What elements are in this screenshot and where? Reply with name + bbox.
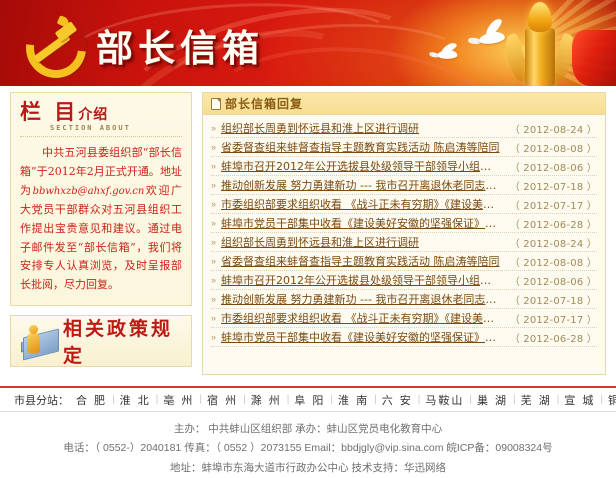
list-item-title[interactable]: 市委组织部要求组织收看 《战斗正未有穷期》《建设美好安徽的坚强保证》题片 <box>221 310 502 326</box>
torch-icon <box>516 2 564 86</box>
list-item[interactable]: »组织部长周勇到怀远县和淮上区进行调研（ 2012-08-24 ） <box>211 119 597 138</box>
footer-line-address: 地址：蚌埠市东海大道市行政办公中心 技术支持：华迅网络 <box>0 459 616 478</box>
list-item-date: （ 2012-06-28 ） <box>510 216 597 231</box>
list-item-title[interactable]: 蚌埠市党员干部集中收看《建设美好安徽的坚强保证》专题片 <box>221 215 502 231</box>
list-item-date: （ 2012-08-06 ） <box>510 273 597 288</box>
section-intro-heading-en: SECTION ABOUT <box>50 124 182 132</box>
bullet-icon: » <box>211 200 216 209</box>
bullet-icon: » <box>211 124 216 133</box>
list-item[interactable]: »省委督查组来蚌督查指导主题教育实践活动 陈启涛等陪同（ 2012-08-08 … <box>211 138 597 157</box>
list-item-date: （ 2012-07-18 ） <box>510 178 597 193</box>
list-item-date: （ 2012-07-17 ） <box>510 197 597 212</box>
page-root: 部长信箱 栏 目介绍 SECTION ABOUT 中共五河县委组织部“部长信箱”… <box>0 0 616 476</box>
list-item-title[interactable]: 市委组织部要求组织收看 《战斗正未有穷期》《建设美好安徽的坚强保证》题片 <box>221 196 502 212</box>
list-item[interactable]: »推动创新发展 努力勇建新功 --- 我市召开离退休老同志组织工作情况通报会（ … <box>211 290 597 309</box>
main-column: 部长信箱回复 »组织部长周勇到怀远县和淮上区进行调研（ 2012-08-24 ）… <box>202 92 606 375</box>
city-link[interactable]: 铜 陵 <box>603 392 616 408</box>
bullet-icon: » <box>211 143 216 152</box>
list-item-date: （ 2012-08-24 ） <box>510 235 597 250</box>
red-flag-icon <box>572 30 616 86</box>
policy-regulations-panel[interactable]: 相关政策规定 <box>10 315 192 367</box>
bullet-icon: » <box>211 333 216 342</box>
sidebar: 栏 目介绍 SECTION ABOUT 中共五河县委组织部“部长信箱”于2012… <box>10 92 192 367</box>
site-footer: 主办： 中共蚌山区组织部 承办：蚌山区党员电化教育中心 电话：（ 0552-）2… <box>0 412 616 478</box>
footer-line-organizer: 主办： 中共蚌山区组织部 承办：蚌山区党员电化教育中心 <box>0 420 616 439</box>
contact-email-link[interactable]: bbwhxzb@ahxf.gov.cn <box>33 186 145 197</box>
reply-list-title: 部长信箱回复 <box>225 95 303 112</box>
city-link[interactable]: 滁 州 <box>246 392 287 408</box>
city-subnav-label: 市县分站： <box>14 392 69 408</box>
list-item-date: （ 2012-08-24 ） <box>510 121 597 136</box>
content-area: 栏 目介绍 SECTION ABOUT 中共五河县委组织部“部长信箱”于2012… <box>0 86 616 386</box>
book-person-icon <box>19 323 59 359</box>
city-link[interactable]: 淮 南 <box>333 392 374 408</box>
bullet-icon: » <box>211 181 216 190</box>
list-item-title[interactable]: 蚌埠市召开2012年公开选拔县处级领导干部领导小组第二次会议 <box>221 272 502 288</box>
city-link[interactable]: 宣 城 <box>559 392 600 408</box>
list-item[interactable]: »组织部长周勇到怀远县和淮上区进行调研（ 2012-08-24 ） <box>211 233 597 252</box>
list-item[interactable]: »蚌埠市党员干部集中收看《建设美好安徽的坚强保证》专题片（ 2012-06-28… <box>211 214 597 233</box>
list-item-title[interactable]: 蚌埠市党员干部集中收看《建设美好安徽的坚强保证》专题片 <box>221 329 502 345</box>
city-link[interactable]: 合 肥 <box>71 392 112 408</box>
hammer-sickle-icon <box>22 14 84 72</box>
list-item[interactable]: »蚌埠市党员干部集中收看《建设美好安徽的坚强保证》专题片（ 2012-06-28… <box>211 328 597 347</box>
city-link[interactable]: 巢 湖 <box>472 392 513 408</box>
list-item[interactable]: »蚌埠市召开2012年公开选拔县处级领导干部领导小组第二次会议（ 2012-08… <box>211 271 597 290</box>
list-item-title[interactable]: 省委督查组来蚌督查指导主题教育实践活动 陈启涛等陪同 <box>221 139 502 155</box>
city-subnav: 市县分站： 合 肥|淮 北|亳 州|宿 州|滁 州|阜 阳|淮 南|六 安|马鞍… <box>0 386 616 412</box>
list-item[interactable]: »省委督查组来蚌督查指导主题教育实践活动 陈启涛等陪同（ 2012-08-08 … <box>211 252 597 271</box>
bullet-icon: » <box>211 314 216 323</box>
bullet-icon: » <box>211 257 216 266</box>
section-intro-text: 中共五河县委组织部“部长信箱”于2012年2月正式开通。地址为bbwhxzb@a… <box>20 144 182 295</box>
city-link[interactable]: 宿 州 <box>202 392 243 408</box>
city-link[interactable]: 马鞍山 <box>420 392 469 408</box>
list-item-date: （ 2012-08-06 ） <box>510 159 597 174</box>
city-link[interactable]: 淮 北 <box>115 392 156 408</box>
city-subnav-items: 合 肥|淮 北|亳 州|宿 州|滁 州|阜 阳|淮 南|六 安|马鞍山|巢 湖|… <box>71 392 616 408</box>
list-item-title[interactable]: 省委督查组来蚌督查指导主题教育实践活动 陈启涛等陪同 <box>221 253 502 269</box>
reply-list-panel: 部长信箱回复 »组织部长周勇到怀远县和淮上区进行调研（ 2012-08-24 ）… <box>202 92 606 375</box>
site-banner: 部长信箱 <box>0 0 616 86</box>
section-intro-heading: 栏 目介绍 <box>20 101 108 123</box>
list-item-title[interactable]: 推动创新发展 努力勇建新功 --- 我市召开离退休老同志组织工作情况通报会 <box>221 177 502 193</box>
section-intro-panel: 栏 目介绍 SECTION ABOUT 中共五河县委组织部“部长信箱”于2012… <box>10 92 192 306</box>
list-item-title[interactable]: 组织部长周勇到怀远县和淮上区进行调研 <box>221 120 502 136</box>
list-item-date: （ 2012-07-18 ） <box>510 292 597 307</box>
list-item-title[interactable]: 推动创新发展 努力勇建新功 --- 我市召开离退休老同志组织工作情况通报会 <box>221 291 502 307</box>
bullet-icon: » <box>211 238 216 247</box>
city-link[interactable]: 芜 湖 <box>516 392 557 408</box>
bullet-icon: » <box>211 276 216 285</box>
list-item-date: （ 2012-07-17 ） <box>510 311 597 326</box>
city-link[interactable]: 阜 阳 <box>289 392 330 408</box>
bullet-icon: » <box>211 295 216 304</box>
list-item[interactable]: »市委组织部要求组织收看 《战斗正未有穷期》《建设美好安徽的坚强保证》题片（ 2… <box>211 309 597 328</box>
page-title: 部长信箱 <box>96 18 264 72</box>
city-link[interactable]: 六 安 <box>377 392 418 408</box>
list-item-title[interactable]: 蚌埠市召开2012年公开选拔县处级领导干部领导小组第二次会议 <box>221 158 502 174</box>
list-item[interactable]: »蚌埠市召开2012年公开选拔县处级领导干部领导小组第二次会议（ 2012-08… <box>211 157 597 176</box>
reply-list-header: 部长信箱回复 <box>203 93 605 115</box>
list-item-date: （ 2012-06-28 ） <box>510 330 597 345</box>
footer-line-contact: 电话：（ 0552-）2040181 传真：（ 0552 ）2073155 Em… <box>0 439 616 458</box>
bullet-icon: » <box>211 219 216 228</box>
list-item-date: （ 2012-08-08 ） <box>510 254 597 269</box>
bullet-icon: » <box>211 162 216 171</box>
list-item-title[interactable]: 组织部长周勇到怀远县和淮上区进行调研 <box>221 234 502 250</box>
policy-regulations-title: 相关政策规定 <box>63 314 191 368</box>
reply-list-body: »组织部长周勇到怀远县和淮上区进行调研（ 2012-08-24 ）»省委督查组来… <box>203 115 605 347</box>
city-link[interactable]: 亳 州 <box>158 392 199 408</box>
list-item[interactable]: »市委组织部要求组织收看 《战斗正未有穷期》《建设美好安徽的坚强保证》题片（ 2… <box>211 195 597 214</box>
document-icon <box>211 98 220 109</box>
section-intro-header: 栏 目介绍 SECTION ABOUT <box>20 101 182 137</box>
list-item-date: （ 2012-08-08 ） <box>510 140 597 155</box>
list-item[interactable]: »推动创新发展 努力勇建新功 --- 我市召开离退休老同志组织工作情况通报会（ … <box>211 176 597 195</box>
